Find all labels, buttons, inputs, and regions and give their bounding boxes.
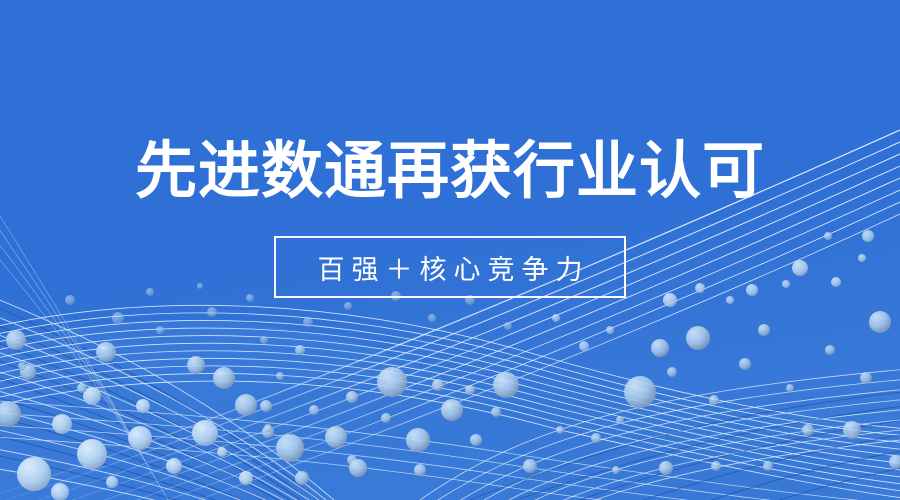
subtitle-badge: 百强＋核心竞争力 bbox=[274, 236, 626, 298]
subtitle-label: 百强＋核心竞争力 bbox=[311, 248, 590, 287]
banner-text-block: 先进数通再获行业认可 百强＋核心竞争力 bbox=[0, 0, 900, 500]
page-title: 先进数通再获行业认可 bbox=[135, 138, 765, 206]
banner-image: 先进数通再获行业认可 百强＋核心竞争力 bbox=[0, 0, 900, 500]
